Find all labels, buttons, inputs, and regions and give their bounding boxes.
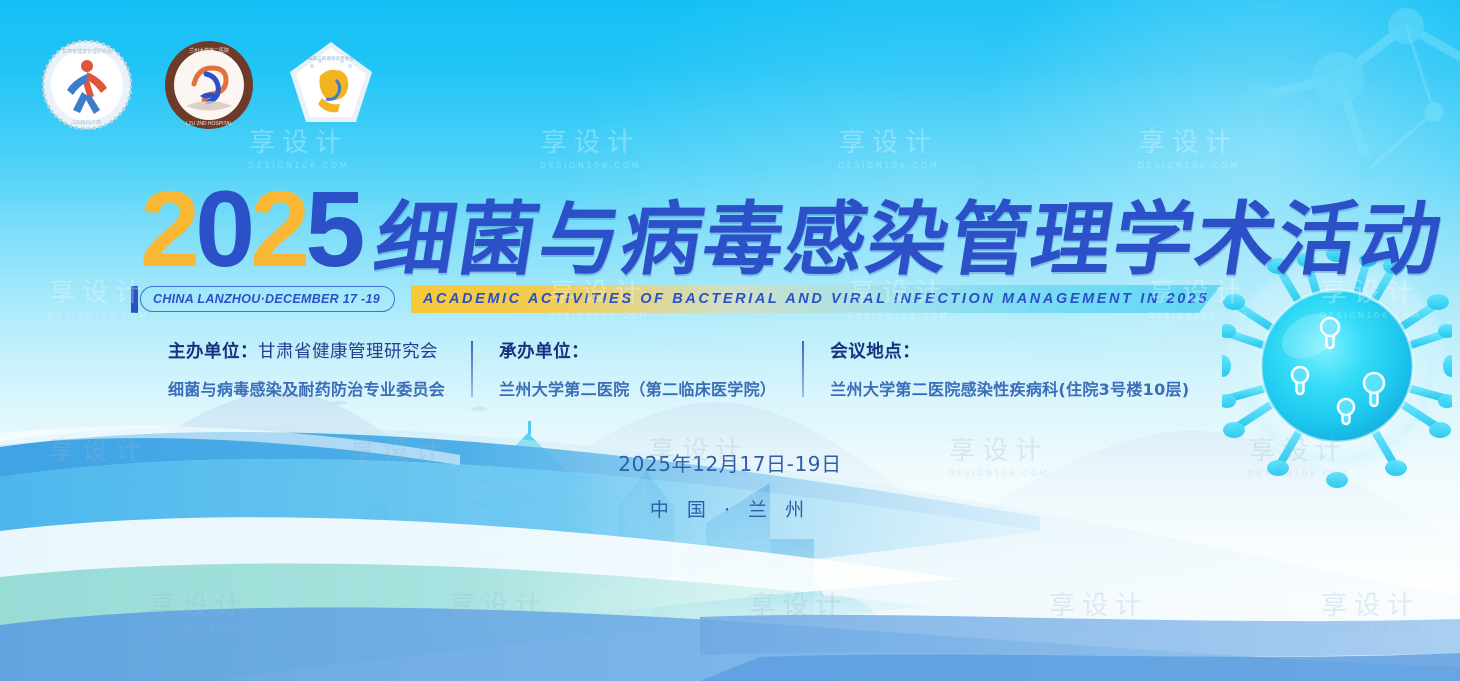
main-title-chinese: 细菌与病毒感染管理学术活动 (370, 202, 1448, 278)
gansu-health-management-association-emblem: 甘肃省健康管理研究会 GSJKGLYJH (42, 40, 132, 130)
info-host-label: 主办单位： (168, 342, 258, 362)
year-digit-1: 0 (195, 179, 250, 278)
subtitle-ribbon-row: CHINA LANZHOU·DECEMBER 17 -19 ACADEMIC A… (0, 284, 1460, 314)
organizer-logos: 甘肃省健康管理研究会 GSJKGLYJH 兰州大学第二医院 LZU 2ND HO… (42, 40, 376, 130)
watermark-main-text: 享设计 (838, 122, 939, 159)
info-host-value: 甘肃省健康管理研究会 (258, 342, 438, 362)
svg-text:甘肃省健康管理研究会: 甘肃省健康管理研究会 (62, 48, 112, 55)
info-host-sub: 细菌与病毒感染及耐药防治专业委员会 (168, 376, 445, 400)
svg-text:GSJKGLYJH: GSJKGLYJH (73, 120, 102, 126)
event-city: 中 国 · 兰 州 (0, 495, 1460, 522)
location-date-badge-text: CHINA LANZHOU·DECEMBER 17 -19 (153, 292, 380, 306)
svg-text:LZU 2ND HOSPITAL: LZU 2ND HOSPITAL (186, 121, 233, 127)
info-organizer-head: 承办单位： (499, 338, 776, 363)
svg-text:兰州大学第二医院: 兰州大学第二医院 (189, 47, 229, 54)
watermark-main-text: 享设计 (540, 122, 641, 159)
info-venue-head: 会议地点： (830, 338, 1189, 363)
event-date: 2025年12月17日-19日 (0, 448, 1460, 477)
info-column-organizer: 承办单位： 兰州大学第二医院（第二临床医学院） (471, 338, 802, 400)
year-digit-2: 2 (250, 179, 305, 278)
organizer-info-row: 主办单位：甘肃省健康管理研究会 细菌与病毒感染及耐药防治专业委员会 承办单位： … (168, 338, 1215, 400)
location-date-badge: CHINA LANZHOU·DECEMBER 17 -19 (140, 286, 395, 312)
info-organizer-label: 承办单位： (499, 342, 589, 362)
year-digit-0: 2 (140, 179, 195, 278)
english-subtitle-text: ACADEMIC ACTIVITIES OF BACTERIAL AND VIR… (423, 291, 1209, 307)
conference-poster: 甘肃省健康管理研究会 GSJKGLYJH 兰州大学第二医院 LZU 2ND HO… (0, 0, 1460, 681)
info-column-host: 主办单位：甘肃省健康管理研究会 细菌与病毒感染及耐药防治专业委员会 (168, 338, 471, 400)
year-digit-3: 5 (305, 179, 360, 278)
english-subtitle-ribbon: ACADEMIC ACTIVITIES OF BACTERIAL AND VIR… (411, 285, 1221, 313)
infection-committee-emblem: 细菌与病毒感染专委会 (286, 40, 376, 130)
title-block: 2025 细菌与病毒感染管理学术活动 CHINA LANZHOU·DECEMBE… (0, 160, 1460, 314)
lanzhou-university-second-hospital-emblem: 兰州大学第二医院 LZU 2ND HOSPITAL (164, 40, 254, 130)
year-2025: 2025 (140, 179, 360, 278)
info-host-head: 主办单位：甘肃省健康管理研究会 (168, 338, 445, 363)
date-location-block: 2025年12月17日-19日 中 国 · 兰 州 (0, 448, 1460, 522)
info-column-venue: 会议地点： 兰州大学第二医院感染性疾病科(住院3号楼10层) (802, 338, 1215, 400)
info-venue-label: 会议地点： (830, 342, 920, 362)
info-organizer-sub: 兰州大学第二医院（第二临床医学院） (499, 376, 776, 400)
info-venue-sub: 兰州大学第二医院感染性疾病科(住院3号楼10层) (830, 376, 1189, 400)
